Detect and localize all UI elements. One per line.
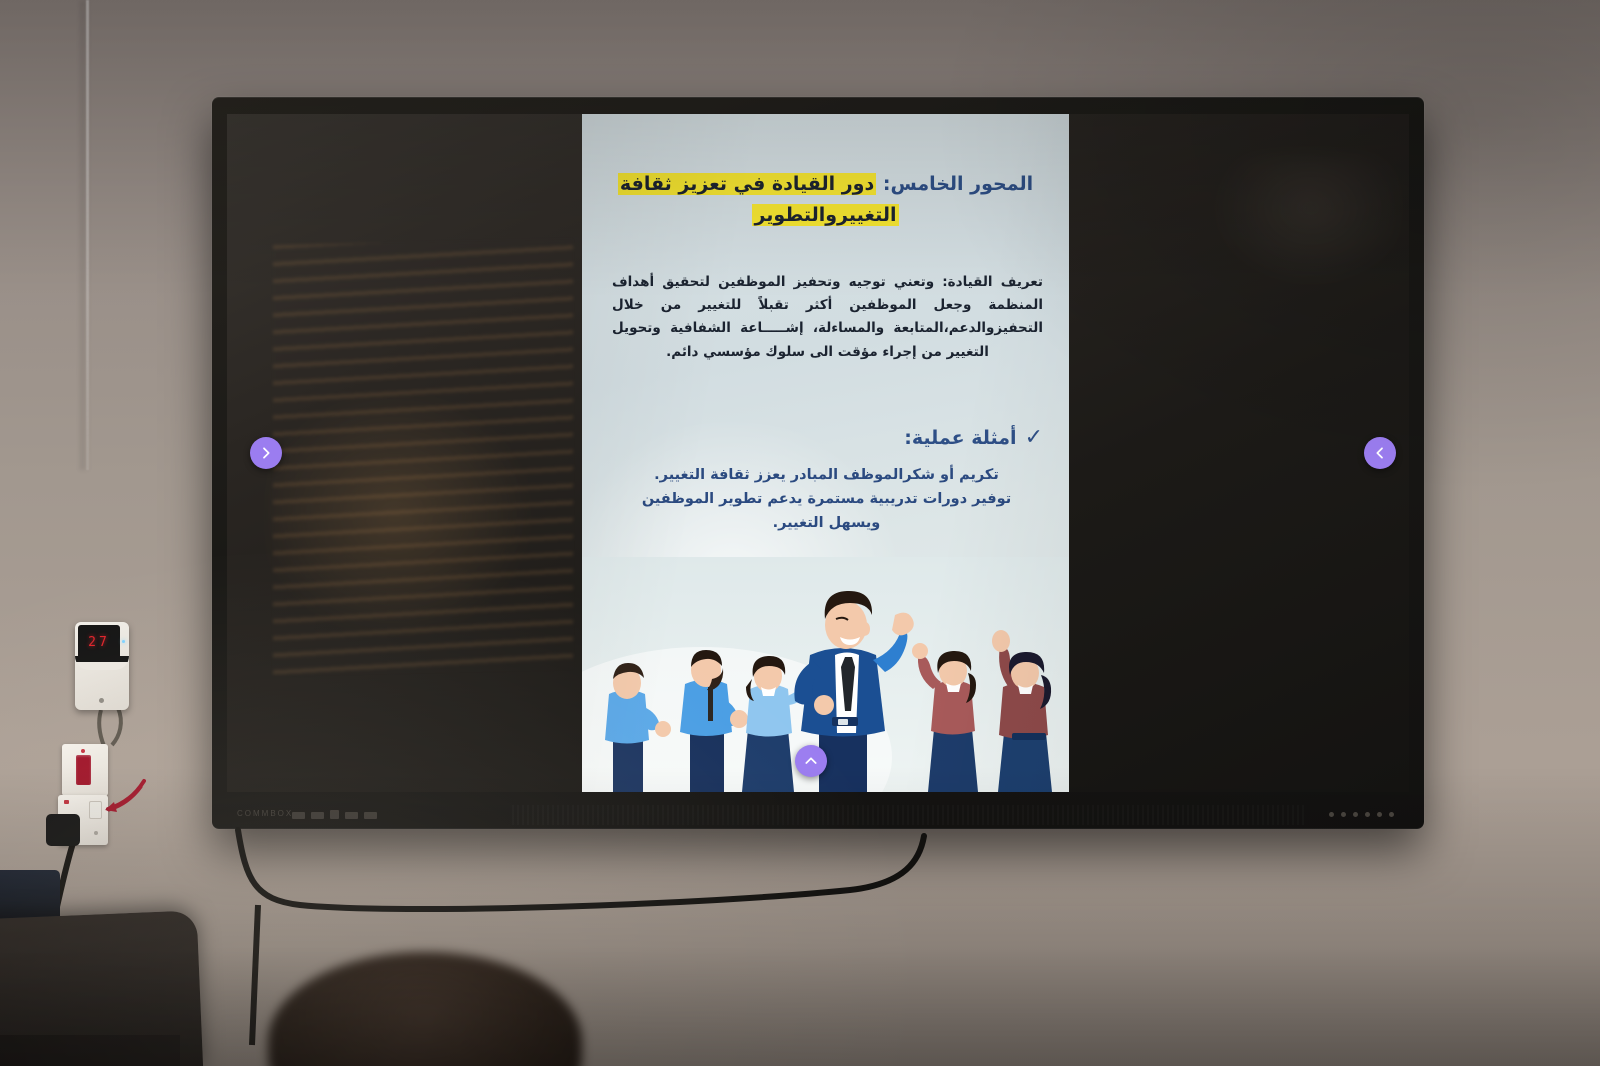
panel-port-group (292, 810, 377, 819)
glare-reflection (267, 364, 587, 664)
thermostat-button[interactable] (99, 698, 104, 703)
thermostat-reading: 27 (88, 635, 110, 650)
chevron-left-icon (1372, 445, 1388, 461)
chevron-up-icon (803, 753, 819, 769)
socket-screw-icon (94, 831, 98, 835)
rocker-switch[interactable] (76, 755, 91, 785)
slide-bullet-3: ويسهل التغيير. (610, 512, 1043, 535)
slide-title-prefix: المحور الخامس: (883, 173, 1033, 195)
menu-button-icon[interactable] (1377, 812, 1382, 817)
panel-screen[interactable]: المحور الخامس: دور القيادة في تعزيز ثقاف… (227, 114, 1409, 792)
slide-title: المحور الخامس: دور القيادة في تعزيز ثقاف… (598, 169, 1053, 231)
thermostat-cable (99, 710, 104, 746)
volume-up-icon[interactable] (1353, 812, 1358, 817)
nav-right-button[interactable] (1364, 437, 1396, 469)
panel-speaker-grille (512, 805, 1304, 825)
check-icon: ✓ (1025, 426, 1043, 448)
source-button-icon[interactable] (1365, 812, 1370, 817)
digital-thermostat[interactable]: 27 (75, 622, 129, 710)
slide-bullet-2: توفير دورات تدريبية مستمرة يدعم تطوير ال… (610, 488, 1043, 511)
panel-control-group[interactable] (1329, 812, 1394, 817)
slide-paragraph: تعريف القيادة: وتعني توجيه وتحفيز الموظف… (612, 271, 1043, 364)
panel-brand-logo: COMMBOX (237, 809, 293, 818)
interactive-flat-panel[interactable]: المحور الخامس: دور القيادة في تعزيز ثقاف… (212, 97, 1424, 829)
nav-left-button[interactable] (250, 437, 282, 469)
corner-reflection (1179, 154, 1399, 334)
slide-title-highlight-1: دور القيادة في تعزيز ثقافة (618, 173, 876, 195)
red-arrow-marking (100, 778, 146, 814)
usb-port-icon (292, 812, 305, 819)
slide-bullets: تكريم أو شكرالموظف المبادر يعزز ثقافة ال… (610, 464, 1043, 536)
slide-title-highlight-2: التغييروالتطوير (752, 204, 898, 226)
chevron-right-icon (258, 445, 274, 461)
nav-up-button[interactable] (795, 745, 827, 777)
aux-port-icon (345, 812, 358, 819)
black-plug (46, 814, 80, 846)
aux-port-icon (364, 812, 377, 819)
audience-head (268, 952, 582, 1066)
socket-led-icon (64, 800, 69, 804)
switch-indicator-icon (81, 749, 85, 753)
thermostat-faceplate (75, 656, 129, 670)
thermostat-cable-2 (112, 708, 121, 745)
volume-down-icon[interactable] (1341, 812, 1346, 817)
thermostat-screen: 27 (78, 625, 120, 659)
power-cable (238, 830, 924, 909)
foreground-chair-seat (0, 1035, 180, 1066)
hdmi-port-icon (330, 810, 339, 819)
ir-sensor-icon (1389, 812, 1394, 817)
status-led-icon (122, 640, 125, 643)
presentation-slide[interactable]: المحور الخامس: دور القيادة في تعزيز ثقاف… (582, 114, 1069, 792)
examples-heading: أمثلة عملية: (904, 427, 1016, 449)
examples-heading-row: ✓ أمثلة عملية: (612, 427, 1043, 449)
power-indicator-icon[interactable] (1329, 812, 1334, 817)
wall-seam (86, 0, 89, 470)
usb-port-icon (311, 812, 324, 819)
foreground-blur (0, 946, 1600, 1066)
room-scene: المحور الخامس: دور القيادة في تعزيز ثقاف… (0, 0, 1600, 1066)
slide-bullet-1: تكريم أو شكرالموظف المبادر يعزز ثقافة ال… (610, 464, 1043, 487)
drop-cable (252, 905, 258, 1045)
